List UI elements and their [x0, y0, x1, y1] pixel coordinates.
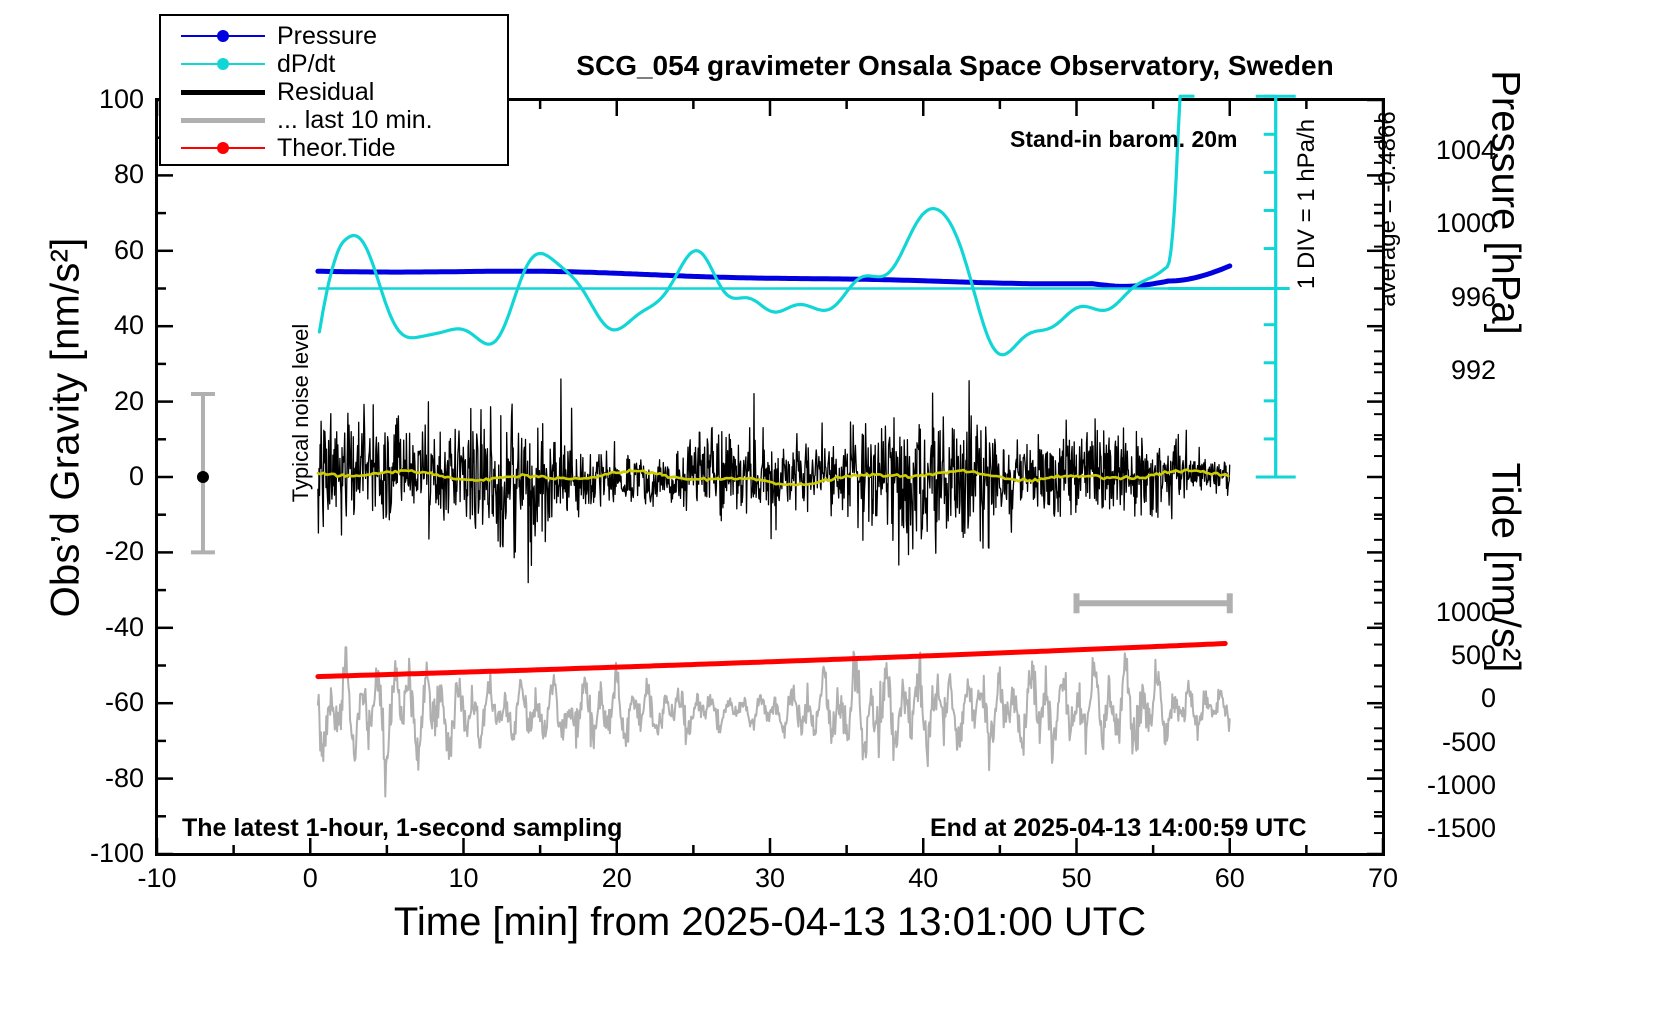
y-tick-left-100: 100 — [24, 86, 144, 113]
legend-swatch-dpdt — [181, 54, 265, 74]
y-tick-tide--1500: -1500 — [1404, 815, 1496, 842]
y-tick-left--60: -60 — [24, 689, 144, 716]
legend-label-residual: Residual — [277, 80, 374, 105]
legend-label-last10: ... last 10 min. — [277, 108, 433, 133]
legend-item-tide[interactable]: Theor.Tide — [181, 134, 507, 162]
legend-label-dpdt: dP/dt — [277, 52, 335, 77]
legend-swatch-last10 — [181, 110, 265, 130]
y-tick-left-0: 0 — [24, 463, 144, 490]
x-tick-40: 40 — [868, 865, 978, 892]
legend-item-last10[interactable]: ... last 10 min. — [181, 106, 507, 134]
x-tick-20: 20 — [562, 865, 672, 892]
y-tick-left--20: -20 — [24, 538, 144, 565]
dpdt-average-label: average = -0.4866 — [1374, 64, 1402, 354]
y-tick-tide--500: -500 — [1404, 729, 1496, 756]
div-scale-label: 1 DIV = 1 hPa/h — [1293, 59, 1321, 349]
y-tick-left--100: -100 — [24, 840, 144, 867]
legend-item-residual[interactable]: Residual — [181, 78, 507, 106]
y-tick-left-80: 80 — [24, 161, 144, 188]
y-tick-left-20: 20 — [24, 388, 144, 415]
x-tick-0: 0 — [255, 865, 365, 892]
y-tick-tide-0: 0 — [1404, 685, 1496, 712]
y-tick-tide--1000: -1000 — [1404, 772, 1496, 799]
legend-label-pressure: Pressure — [277, 24, 377, 49]
legend-label-tide: Theor.Tide — [277, 136, 396, 161]
y-tick-left-40: 40 — [24, 312, 144, 339]
y-tick-tide-500: 500 — [1404, 642, 1496, 669]
legend: Pressure dP/dt Residual ... last 10 min.… — [159, 14, 509, 166]
y-tick-left--40: -40 — [24, 614, 144, 641]
legend-swatch-tide — [181, 138, 265, 158]
y-tick-pressure-992: 992 — [1404, 357, 1496, 384]
noise-level-label: Typical noise level — [288, 298, 314, 528]
x-tick-50: 50 — [1022, 865, 1132, 892]
x-axis-title: Time [min] from 2025-04-13 13:01:00 UTC — [180, 900, 1360, 945]
plot-frame — [155, 98, 1385, 856]
y-tick-pressure-1004: 1004 — [1404, 137, 1496, 164]
y-tick-pressure-996: 996 — [1404, 284, 1496, 311]
legend-swatch-pressure — [181, 26, 265, 46]
y-tick-left--80: -80 — [24, 765, 144, 792]
x-tick-60: 60 — [1175, 865, 1285, 892]
sampling-note: The latest 1-hour, 1-second sampling — [182, 814, 622, 843]
legend-item-pressure[interactable]: Pressure — [181, 22, 507, 50]
legend-swatch-residual — [181, 82, 265, 102]
y-axis-title-tide: Tide [nm/s²] — [1483, 358, 1528, 778]
standin-barometer-annotation: Stand-in barom. 20m — [1010, 126, 1237, 153]
x-tick-70: 70 — [1328, 865, 1438, 892]
y-tick-left-60: 60 — [24, 237, 144, 264]
end-time-note: End at 2025-04-13 14:00:59 UTC — [930, 814, 1307, 843]
x-tick-10: 10 — [409, 865, 519, 892]
x-tick--10: -10 — [102, 865, 212, 892]
x-tick-30: 30 — [715, 865, 825, 892]
y-axis-title-pressure: Pressure [hPa] — [1483, 0, 1528, 413]
y-tick-tide-1000: 1000 — [1404, 599, 1496, 626]
y-tick-pressure-1000: 1000 — [1404, 210, 1496, 237]
